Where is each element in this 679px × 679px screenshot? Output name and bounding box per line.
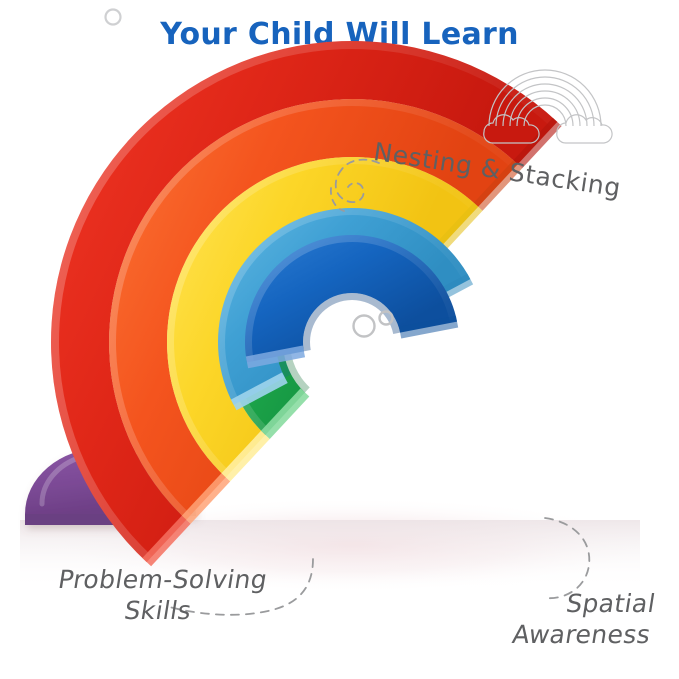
product-feature-graphic: Your Child Will Learn bbox=[0, 0, 679, 679]
callout-spatial-awareness: Spatial Awareness bbox=[510, 588, 658, 650]
callout-problem-solving: Problem-Solving Skills bbox=[51, 564, 270, 626]
